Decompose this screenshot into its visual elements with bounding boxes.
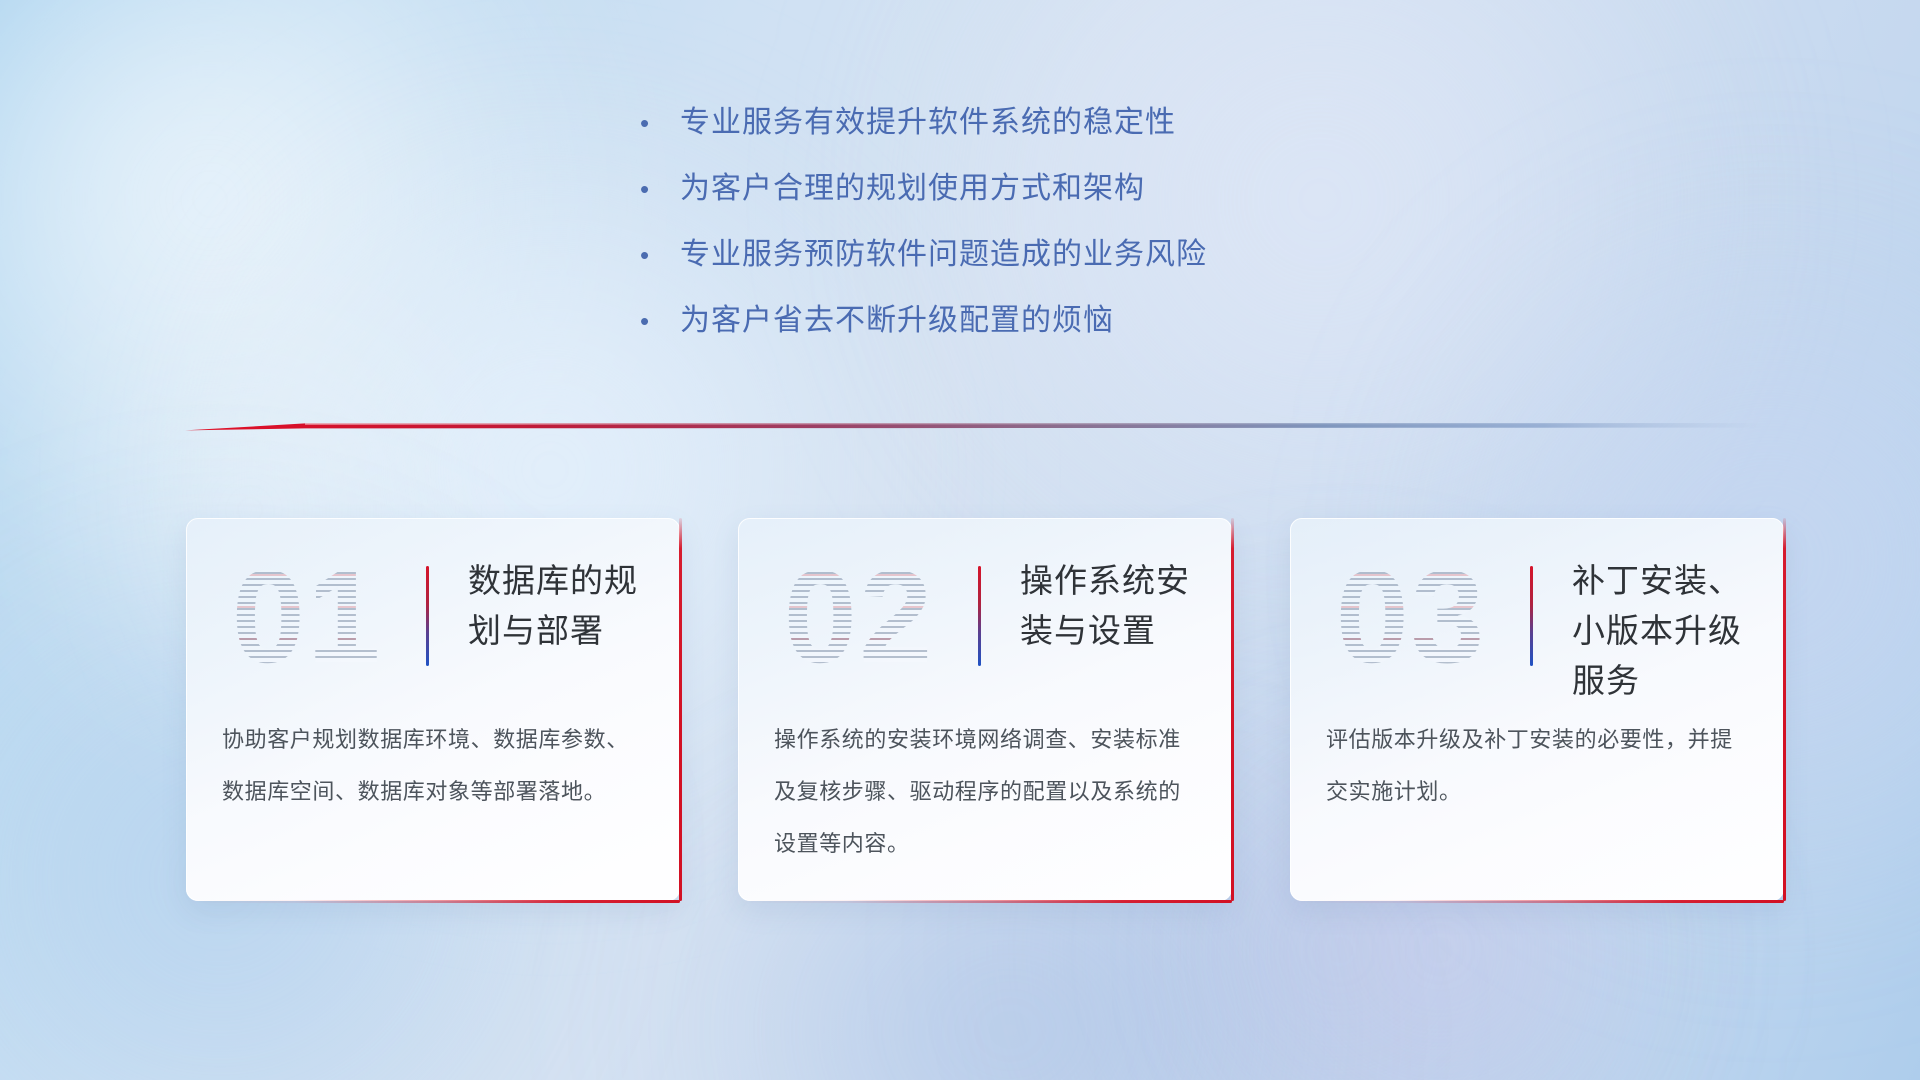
card-header: 02 02 操作系统安装与设置 — [738, 518, 1232, 714]
bullet-item: • 专业服务有效提升软件系统的稳定性 — [640, 100, 1280, 146]
card-index-number: 03 — [1316, 542, 1506, 692]
card-title: 操作系统安装与设置 — [1020, 556, 1210, 656]
card-title-accent-bar — [426, 566, 429, 666]
card-accent-edge-bottom — [1290, 900, 1784, 903]
card-body-text: 评估版本升级及补丁安装的必要性，并提交实施计划。 — [1326, 714, 1750, 818]
card-title-accent-bar — [1530, 566, 1533, 666]
bullet-text: 专业服务有效提升软件系统的稳定性 — [680, 100, 1176, 146]
card-index-number: 01 — [212, 542, 402, 692]
card-body-text: 操作系统的安装环境网络调查、安装标准及复核步骤、驱动程序的配置以及系统的设置等内… — [774, 714, 1198, 870]
card-title-accent-bar — [978, 566, 981, 666]
section-divider — [185, 418, 1765, 440]
bullet-dot-icon: • — [640, 298, 680, 344]
card-accent-edge-bottom — [186, 900, 680, 903]
card-accent-edge-bottom — [738, 900, 1232, 903]
service-card-row: 01 01 数据库的规划与部署 协助客户规划数据库环境、数据库参数、数据库空间、… — [186, 518, 1784, 901]
service-card[interactable]: 02 02 操作系统安装与设置 操作系统的安装环境网络调查、安装标准及复核步骤、… — [738, 518, 1232, 901]
bullet-dot-icon: • — [640, 100, 680, 146]
card-title: 补丁安装、小版本升级服务 — [1572, 556, 1762, 706]
card-title: 数据库的规划与部署 — [468, 556, 658, 656]
bullet-text: 为客户省去不断升级配置的烦恼 — [680, 298, 1114, 344]
card-body-text: 协助客户规划数据库环境、数据库参数、数据库空间、数据库对象等部署落地。 — [222, 714, 646, 818]
card-header: 03 03 补丁安装、小版本升级服务 — [1290, 518, 1784, 714]
bullet-dot-icon: • — [640, 232, 680, 278]
bullet-text: 为客户合理的规划使用方式和架构 — [680, 166, 1145, 212]
benefits-bullet-list: • 专业服务有效提升软件系统的稳定性 • 为客户合理的规划使用方式和架构 • 专… — [0, 100, 1920, 364]
bullet-item: • 专业服务预防软件问题造成的业务风险 — [640, 232, 1280, 278]
bullet-item: • 为客户省去不断升级配置的烦恼 — [640, 298, 1280, 344]
bullet-dot-icon: • — [640, 166, 680, 212]
card-index-number: 02 — [764, 542, 954, 692]
bullet-text: 专业服务预防软件问题造成的业务风险 — [680, 232, 1207, 278]
service-card[interactable]: 03 03 补丁安装、小版本升级服务 评估版本升级及补丁安装的必要性，并提交实施… — [1290, 518, 1784, 901]
service-card[interactable]: 01 01 数据库的规划与部署 协助客户规划数据库环境、数据库参数、数据库空间、… — [186, 518, 680, 901]
slide-canvas: • 专业服务有效提升软件系统的稳定性 • 为客户合理的规划使用方式和架构 • 专… — [0, 0, 1920, 1080]
bullet-item: • 为客户合理的规划使用方式和架构 — [640, 166, 1280, 212]
card-header: 01 01 数据库的规划与部署 — [186, 518, 680, 714]
